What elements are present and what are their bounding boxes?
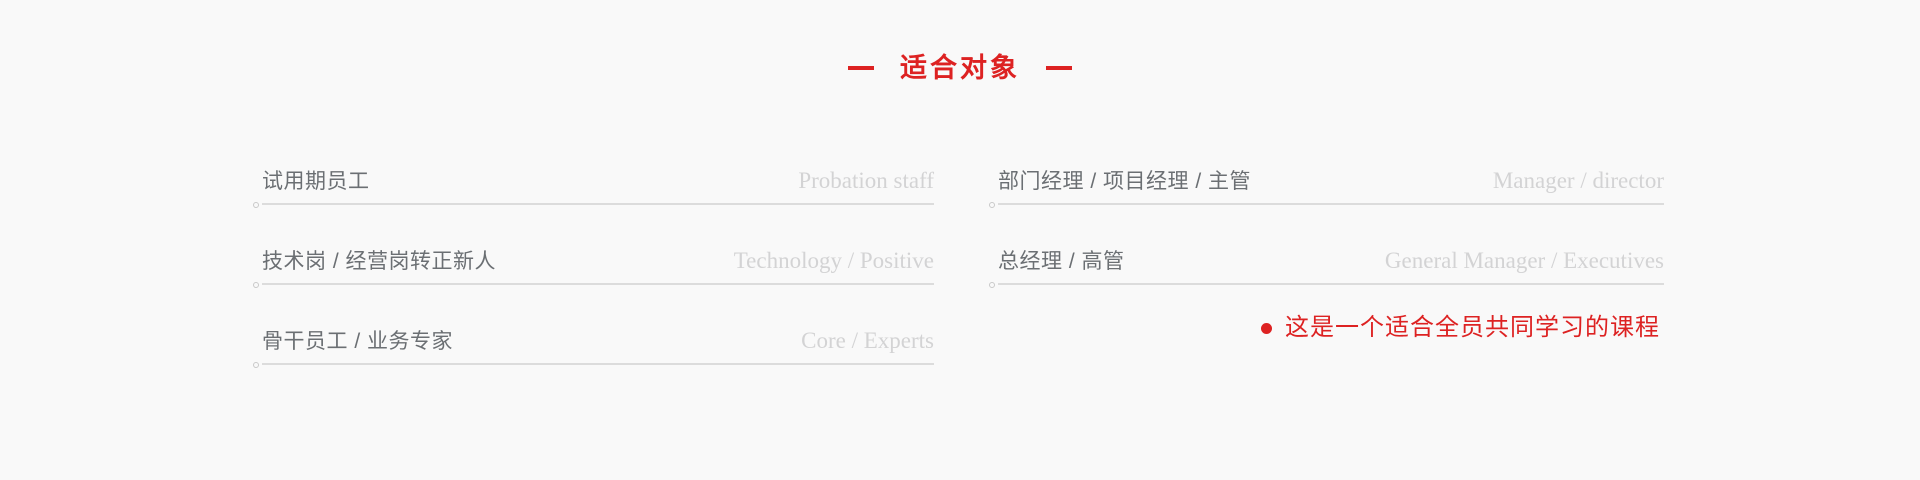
highlight-note-text: 这是一个适合全员共同学习的课程: [1285, 315, 1660, 341]
audience-label-cn: 骨干员工 / 业务专家: [262, 330, 453, 353]
list-item[interactable]: 试用期员工 Probation staff: [262, 128, 934, 208]
audience-label-cn: 总经理 / 高管: [998, 250, 1125, 273]
row-divider: [998, 203, 1664, 205]
list-item[interactable]: 骨干员工 / 业务专家 Core / Experts: [262, 288, 934, 368]
row-divider: [262, 203, 934, 205]
row-divider: [262, 283, 934, 285]
audience-columns: 试用期员工 Probation staff 技术岗 / 经营岗转正新人 Tech…: [0, 128, 1920, 408]
title-dash-left-icon: [848, 66, 874, 70]
list-item[interactable]: 总经理 / 高管 General Manager / Executives: [998, 208, 1664, 288]
audience-label-en: General Manager / Executives: [1385, 248, 1664, 273]
bullet-circle-icon: [253, 282, 259, 288]
audience-section: 适合对象 试用期员工 Probation staff 技术岗 / 经营岗转正新人…: [0, 0, 1920, 480]
row-divider: [998, 283, 1664, 285]
audience-label-cn: 部门经理 / 项目经理 / 主管: [998, 170, 1251, 193]
page-title: 适合对象: [900, 55, 1020, 82]
bullet-circle-icon: [253, 362, 259, 368]
list-item[interactable]: 部门经理 / 项目经理 / 主管 Manager / director: [998, 128, 1664, 208]
audience-label-cn: 试用期员工: [262, 170, 370, 193]
audience-label-en: Probation staff: [798, 168, 934, 193]
audience-label-en: Technology / Positive: [734, 248, 934, 273]
row-divider: [262, 363, 934, 365]
bullet-circle-icon: [989, 282, 995, 288]
list-item[interactable]: 技术岗 / 经营岗转正新人 Technology / Positive: [262, 208, 934, 288]
title-dash-right-icon: [1046, 66, 1072, 70]
audience-column-right: 部门经理 / 项目经理 / 主管 Manager / director 总经理 …: [998, 128, 1664, 368]
bullet-circle-icon: [989, 202, 995, 208]
bullet-circle-icon: [253, 202, 259, 208]
audience-label-cn: 技术岗 / 经营岗转正新人: [262, 250, 496, 273]
audience-label-en: Manager / director: [1493, 168, 1664, 193]
audience-column-left: 试用期员工 Probation staff 技术岗 / 经营岗转正新人 Tech…: [262, 128, 934, 368]
highlight-note: 这是一个适合全员共同学习的课程: [998, 288, 1664, 368]
section-title: 适合对象: [0, 46, 1920, 90]
audience-label-en: Core / Experts: [801, 328, 934, 353]
red-bullet-icon: [1261, 323, 1272, 334]
